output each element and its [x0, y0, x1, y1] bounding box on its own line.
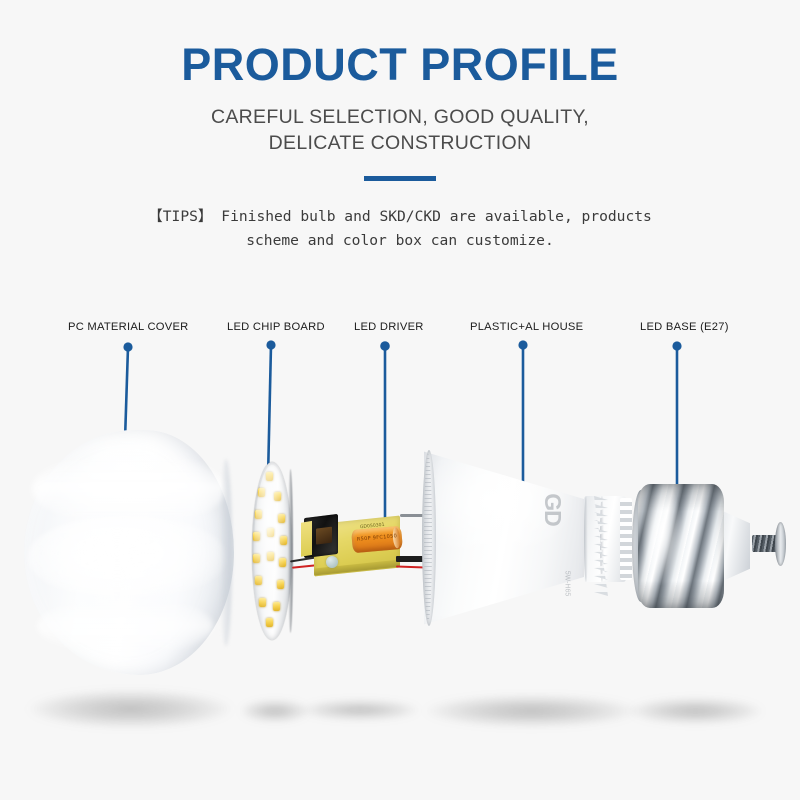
cover-rim-shade — [220, 459, 232, 645]
house-brand-marking: GD — [539, 493, 566, 526]
led-chip — [253, 532, 260, 541]
driver-capacitor: R50P 9FC1050 — [351, 526, 403, 553]
led-chip — [266, 618, 273, 627]
part-plastic-al-house: GD 5W-H65 — [424, 448, 639, 628]
led-chip — [266, 472, 273, 481]
exploded-view-stage: GD050301 R50P 9FC1050 GD 5W-H65 — [0, 0, 800, 800]
led-chip — [277, 580, 284, 589]
led-chip — [253, 554, 260, 563]
led-chip — [259, 598, 266, 607]
led-chip — [258, 488, 265, 497]
led-chip — [273, 602, 280, 611]
transformer-tape — [301, 521, 312, 557]
led-chip — [279, 558, 286, 567]
led-chip — [278, 514, 285, 523]
contact-screw-head — [775, 522, 786, 566]
cover-highlight-mid — [28, 516, 225, 599]
capacitor-marking: R50P 9FC1050 — [357, 533, 398, 542]
house-spec-marking: 5W-H65 — [563, 571, 570, 597]
led-chip — [255, 510, 262, 519]
led-chip — [267, 552, 274, 561]
base-contact-screw — [752, 522, 786, 566]
chip-board-pcb — [252, 462, 292, 640]
house-cone-body — [424, 448, 594, 628]
cover-highlight-top — [32, 452, 225, 526]
part-led-driver: GD050301 R50P 9FC1050 — [300, 508, 408, 592]
driver-transformer — [304, 514, 338, 558]
shadow-plastic-al-house — [424, 695, 639, 727]
chip-board-edge — [288, 469, 293, 633]
driver-small-capacitor — [326, 556, 338, 568]
base-screw-threads — [638, 484, 724, 608]
house-collar-ring-1 — [584, 496, 588, 582]
led-chip — [280, 536, 287, 545]
part-pc-material-cover — [24, 430, 234, 675]
house-lip-ridges — [424, 454, 432, 622]
part-led-chip-board — [252, 462, 292, 640]
shadow-led-driver — [300, 700, 420, 720]
part-led-base-e27 — [610, 482, 790, 612]
transformer-core — [316, 527, 332, 545]
led-chip — [255, 576, 262, 585]
led-chip — [274, 492, 281, 501]
cover-highlight-bottom — [37, 597, 213, 656]
shadow-pc-material-cover — [28, 690, 233, 728]
shadow-led-base-e27 — [628, 698, 763, 724]
led-chip — [267, 528, 274, 537]
